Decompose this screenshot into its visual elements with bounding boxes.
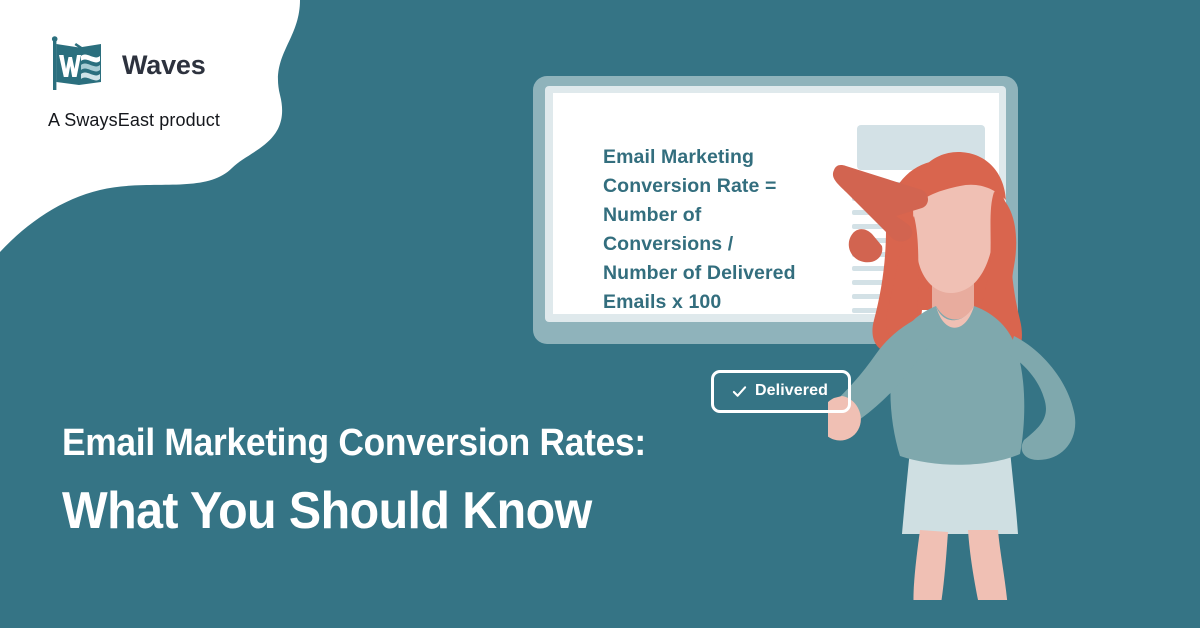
check-icon: [732, 384, 747, 399]
formula-line: Number of Delivered: [603, 259, 853, 288]
whiteboard: Email Marketing Conversion Rate = Number…: [533, 76, 1018, 344]
headline-line-1: Email Marketing Conversion Rates:: [62, 424, 713, 464]
logo-row: Waves: [48, 34, 308, 96]
left-leg: [913, 530, 948, 600]
formula-text: Email Marketing Conversion Rate = Number…: [603, 143, 853, 314]
promo-banner: Waves A SwaysEast product: [0, 0, 1200, 628]
document-side-column: [934, 181, 987, 314]
right-leg: [968, 530, 1008, 600]
page-title: Email Marketing Conversion Rates: What Y…: [62, 424, 762, 538]
brand-name: Waves: [122, 52, 206, 79]
status-badge-label: Delivered: [755, 382, 828, 400]
formula-line: Conversions /: [603, 230, 853, 259]
skirt: [902, 450, 1018, 534]
status-badge[interactable]: Delivered: [711, 370, 851, 413]
waves-flag-logo-icon: [48, 34, 110, 96]
document-line: [852, 294, 914, 299]
formula-line: Number of: [603, 201, 853, 230]
formula-line: Conversion Rate =: [603, 172, 853, 201]
document-line: [852, 308, 914, 313]
document-line: [852, 280, 914, 285]
headline-line-2: What You Should Know: [62, 484, 713, 539]
brand-lockup: Waves A SwaysEast product: [48, 34, 308, 131]
formula-line: Emails x 100: [603, 288, 853, 314]
right-arm: [1008, 336, 1075, 460]
brand-tagline: A SwaysEast product: [48, 110, 308, 131]
arrow-cursor-icon: [826, 164, 941, 276]
formula-line: Email Marketing: [603, 143, 853, 172]
